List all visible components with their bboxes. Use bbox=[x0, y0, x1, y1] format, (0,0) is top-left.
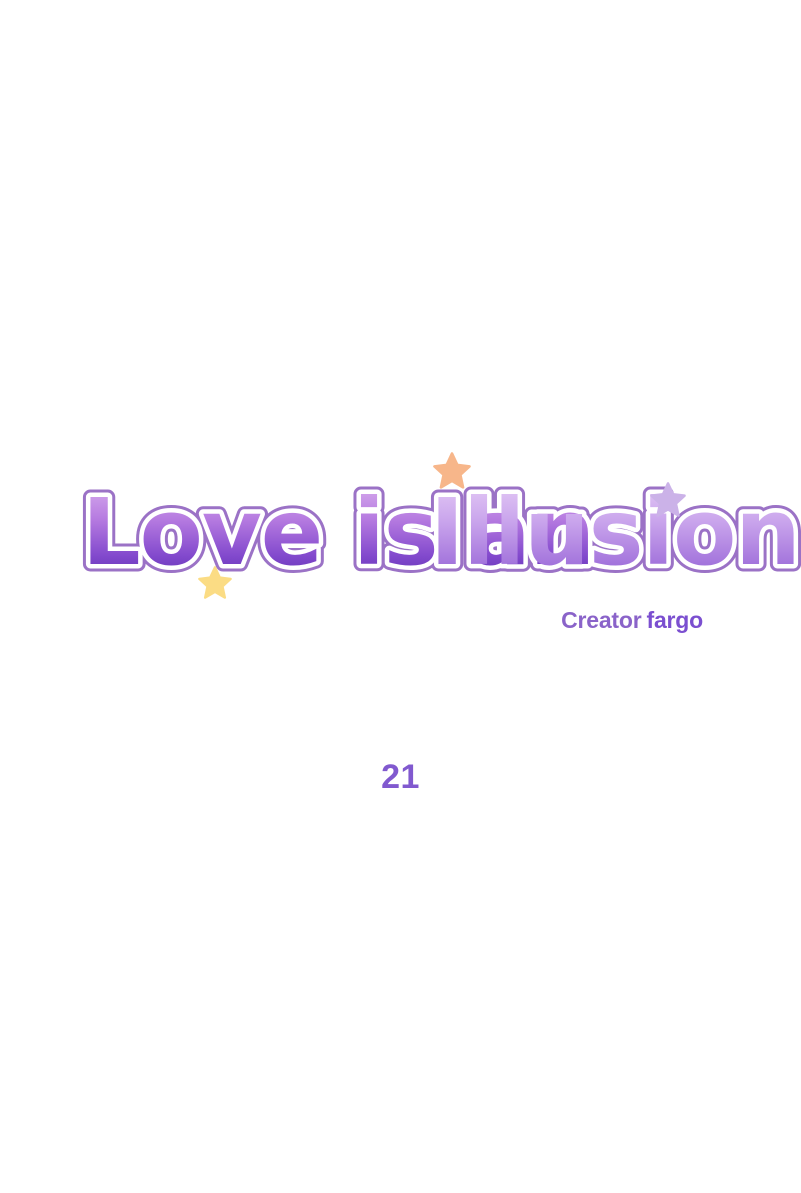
star-orange-icon bbox=[433, 452, 471, 490]
title-fill-right: Illusion! bbox=[430, 479, 801, 586]
comic-title-page: Love is an Illusion! Love is an Illusion… bbox=[0, 0, 801, 1193]
series-title-svg: Love is an Illusion! Love is an Illusion… bbox=[82, 480, 722, 590]
star-lavender-icon bbox=[650, 482, 686, 518]
series-title-logo: Love is an Illusion! Love is an Illusion… bbox=[82, 480, 722, 590]
creator-name: fargo bbox=[646, 607, 703, 633]
creator-credit: Creatorfargo bbox=[0, 605, 703, 635]
chapter-number: 21 bbox=[0, 757, 801, 797]
creator-label: Creator bbox=[561, 607, 641, 633]
star-yellow-icon bbox=[198, 566, 232, 600]
